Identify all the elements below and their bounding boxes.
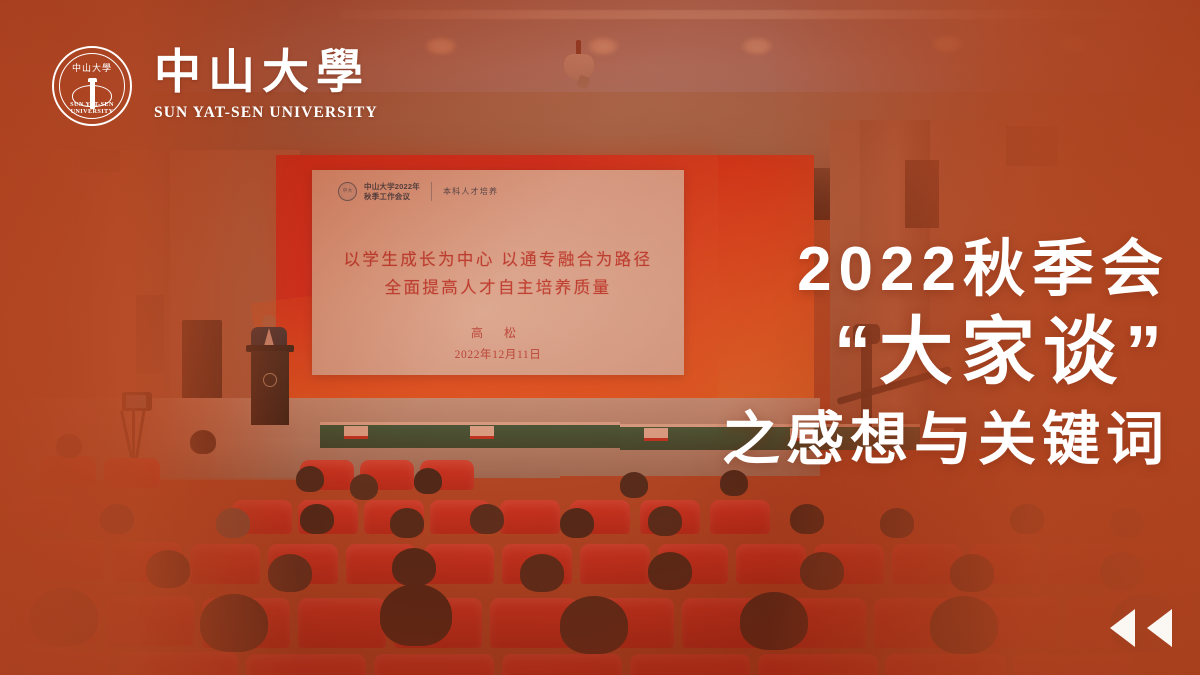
university-seal-icon: 中山大學 SUN YAT-SEN UNIVERSITY xyxy=(52,46,132,126)
seal-cn-label: 中山大學 xyxy=(54,61,130,74)
arrow-left-icon-2[interactable] xyxy=(1147,609,1172,647)
headline-block: 2022秋季会 “大家谈” 之感想与关键词 xyxy=(722,238,1170,472)
headline-line-3: 之感想与关键词 xyxy=(722,408,1170,473)
poster-canvas: 中大 中山大学2022年 秋季工作会议 本科人才培养 以学生成长为中心 以通专融… xyxy=(0,0,1200,675)
brand-name-cn: 中山大學 xyxy=(154,50,378,97)
arrow-left-icon-1[interactable] xyxy=(1110,609,1135,647)
navigation-arrows[interactable] xyxy=(1110,609,1172,647)
brand-wordmark: 中山大學 SUN YAT-SEN UNIVERSITY xyxy=(154,50,378,122)
headline-line-2: “大家谈” xyxy=(722,307,1170,397)
headline-line-1: 2022秋季会 xyxy=(722,238,1170,301)
brand-lockup: 中山大學 SUN YAT-SEN UNIVERSITY 中山大學 SUN YAT… xyxy=(52,46,378,126)
seal-en-label: SUN YAT-SEN UNIVERSITY xyxy=(54,101,130,115)
brand-name-en: SUN YAT-SEN UNIVERSITY xyxy=(154,104,378,122)
